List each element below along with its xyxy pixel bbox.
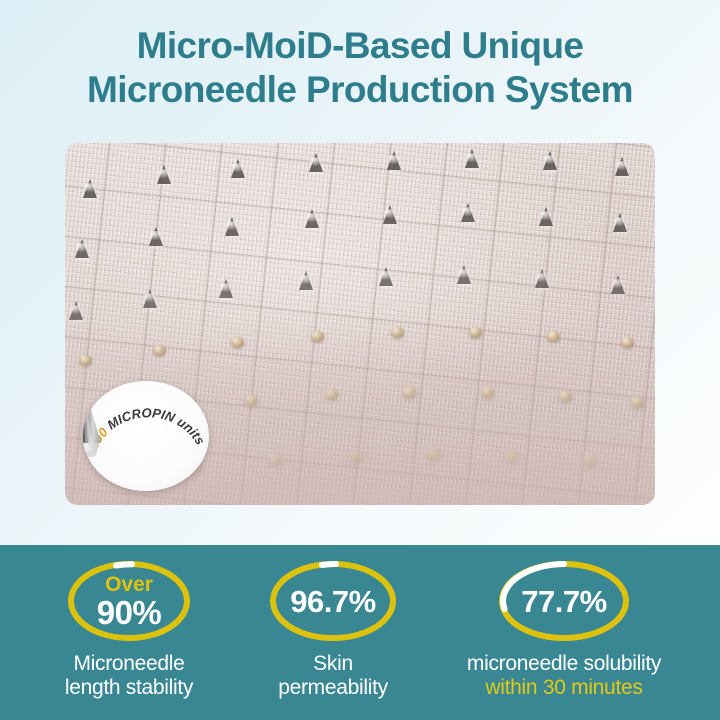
stat-1-ellipse: Over 90% xyxy=(64,557,194,645)
stat-1-caption-line-1: Microneedle xyxy=(73,652,184,675)
stat-2-caption: Skin permeability xyxy=(278,652,388,701)
stat-2-caption-line-2: permeability xyxy=(278,676,388,699)
stat-3-caption-line-1: microneedle solubility xyxy=(467,652,661,675)
stat-1-caption-line-2: length stability xyxy=(65,676,193,699)
stat-3-ellipse: 77.7% xyxy=(494,557,634,645)
microneedle-pin-icon xyxy=(83,381,111,457)
stats-band: Over 90% Microneedle length stability xyxy=(0,545,720,720)
title-line-2: Microneedle Production System xyxy=(0,68,720,112)
stat-card-skin-permeability: 96.7% Skin permeability xyxy=(238,545,428,701)
stat-card-solubility: 77.7% microneedle solubility within 30 m… xyxy=(428,545,700,701)
stat-2-caption-line-1: Skin xyxy=(313,652,353,675)
stat-3-caption-gold: within 30 minutes xyxy=(467,676,661,700)
stat-1-caption: Microneedle length stability xyxy=(65,652,193,701)
title-line-1: Micro-MoiD-Based Unique xyxy=(0,24,720,68)
poster-root: Micro-MoiD-Based Unique Microneedle Prod… xyxy=(0,0,720,720)
stat-card-length-stability: Over 90% Microneedle length stability xyxy=(20,545,238,701)
stats-row: Over 90% Microneedle length stability xyxy=(0,545,720,720)
stat-3-caption: microneedle solubility within 30 minutes xyxy=(467,652,661,701)
stat-2-ellipse: 96.7% xyxy=(266,557,400,645)
micropin-units-badge: 200 MICROPIN units xyxy=(83,381,209,491)
page-title: Micro-MoiD-Based Unique Microneedle Prod… xyxy=(0,24,720,111)
